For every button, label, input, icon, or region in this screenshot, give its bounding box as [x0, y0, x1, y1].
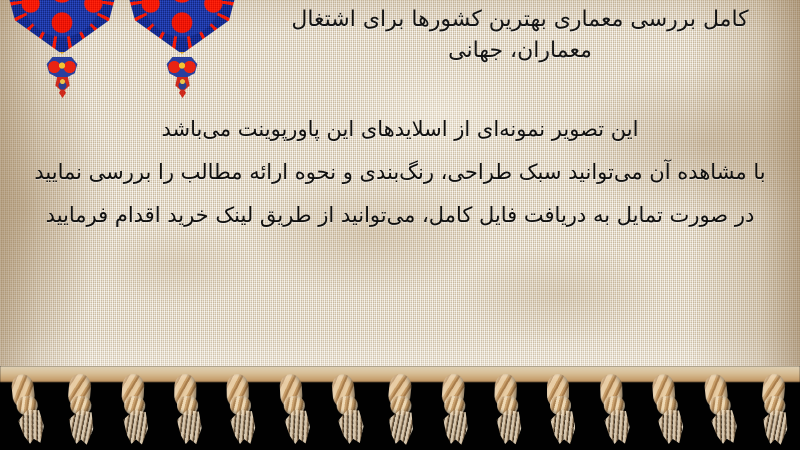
medallion-body: [6, 0, 118, 54]
carpet-fringe-band: [0, 366, 800, 450]
fringe-tassel: [165, 374, 208, 445]
medallion-pendant-medium: [174, 76, 191, 92]
tassel-brush: [283, 409, 311, 444]
carpet-medallion-icon: [126, 0, 238, 92]
fringe-tassel: [271, 373, 317, 445]
fringe-tassel: [485, 373, 529, 444]
slide-body-text: این تصویر نمونه‌ای از اسلایدهای این پاور…: [0, 108, 800, 237]
fringe-tassel: [696, 372, 745, 446]
tassel-brush: [229, 410, 256, 444]
medallion-pendant-large: [166, 56, 198, 80]
tassel-brush: [336, 409, 365, 445]
carpet-medallion-icon: [6, 0, 118, 92]
fringe-tassel: [644, 373, 691, 446]
tassel-brush: [603, 409, 630, 444]
slide-title-line: معماران، جهانی: [250, 35, 790, 66]
body-text-line: در صورت تمایل به دریافت فایل کامل، می‌تو…: [0, 194, 800, 237]
body-text-line: با مشاهده آن می‌توانید سبک طراحی، رنگ‌بن…: [0, 151, 800, 194]
tassel-brush: [495, 410, 522, 445]
fringe-tassel: [219, 374, 262, 445]
fringe-tassel: [591, 373, 635, 444]
medallion-pendant-large: [46, 56, 78, 80]
tassel-brush: [549, 410, 575, 444]
tassel-brush: [440, 409, 468, 445]
fringe-tassel: [2, 372, 51, 446]
tassel-brush: [175, 410, 202, 444]
fringe-tassel: [111, 373, 157, 445]
fringe-tassel: [750, 372, 798, 445]
tassel-brush: [386, 409, 415, 446]
tassel-brush: [121, 409, 149, 444]
fringe-tassel: [323, 372, 371, 445]
presentation-slide: کامل بررسی معماری بهترین کشورها برای اشت…: [0, 0, 800, 450]
fringe-tassel: [539, 374, 581, 444]
slide-title: کامل بررسی معماری بهترین کشورها برای اشت…: [250, 4, 790, 66]
body-text-line: این تصویر نمونه‌ای از اسلایدهای این پاور…: [0, 108, 800, 151]
fringe-tassel: [56, 372, 104, 445]
tassel-brush: [66, 409, 95, 445]
tassel-brush: [656, 409, 684, 445]
fringe-tassel: [376, 372, 425, 446]
medallion-pendant-medium: [54, 76, 71, 92]
slide-title-line: کامل بررسی معماری بهترین کشورها برای اشت…: [250, 4, 790, 35]
fringe-tassel: [430, 373, 477, 446]
tassel-brush: [760, 409, 789, 445]
medallion-body: [126, 0, 238, 54]
